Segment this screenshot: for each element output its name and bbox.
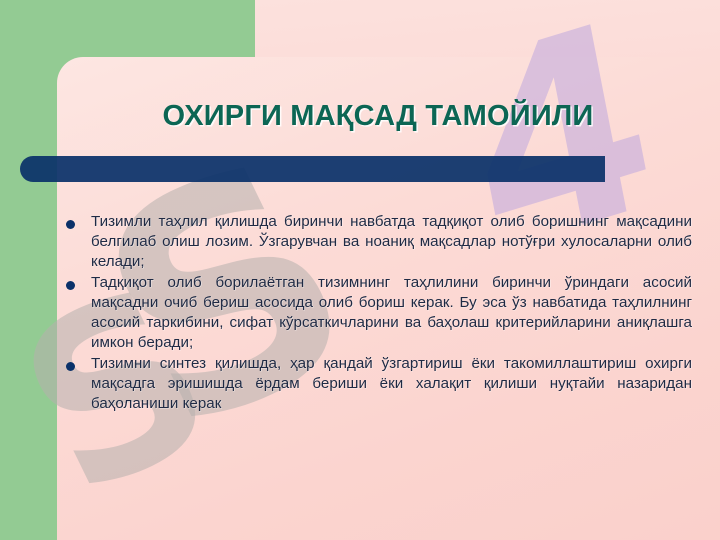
green-top-band: [0, 0, 256, 58]
presentation-slide: S S 4 ОХИРГИ МАҚСАД ТАМОЙИЛИ Тизимли таҳ…: [0, 0, 720, 540]
list-item: Тизимли таҳлил қилишда биринчи навбатда …: [66, 212, 692, 271]
bullet-dot-icon: [66, 281, 75, 290]
slide-title: ОХИРГИ МАҚСАД ТАМОЙИЛИ: [58, 100, 698, 133]
bullet-list: Тизимли таҳлил қилишда биринчи навбатда …: [66, 212, 692, 416]
green-left-strip: [0, 0, 58, 540]
list-item: Тизимни синтез қилишда, ҳар қандай ўзгар…: [66, 354, 692, 413]
bullet-text: Тизимли таҳлил қилишда биринчи навбатда …: [91, 212, 692, 271]
bullet-text: Тизимни синтез қилишда, ҳар қандай ўзгар…: [91, 354, 692, 413]
bullet-dot-icon: [66, 220, 75, 229]
bullet-text: Тадқиқот олиб борилаётган тизимнинг таҳл…: [91, 273, 692, 352]
title-underline-bar: [20, 156, 605, 182]
list-item: Тадқиқот олиб борилаётган тизимнинг таҳл…: [66, 273, 692, 352]
pink-top-right-band: [255, 0, 720, 60]
bullet-dot-icon: [66, 362, 75, 371]
